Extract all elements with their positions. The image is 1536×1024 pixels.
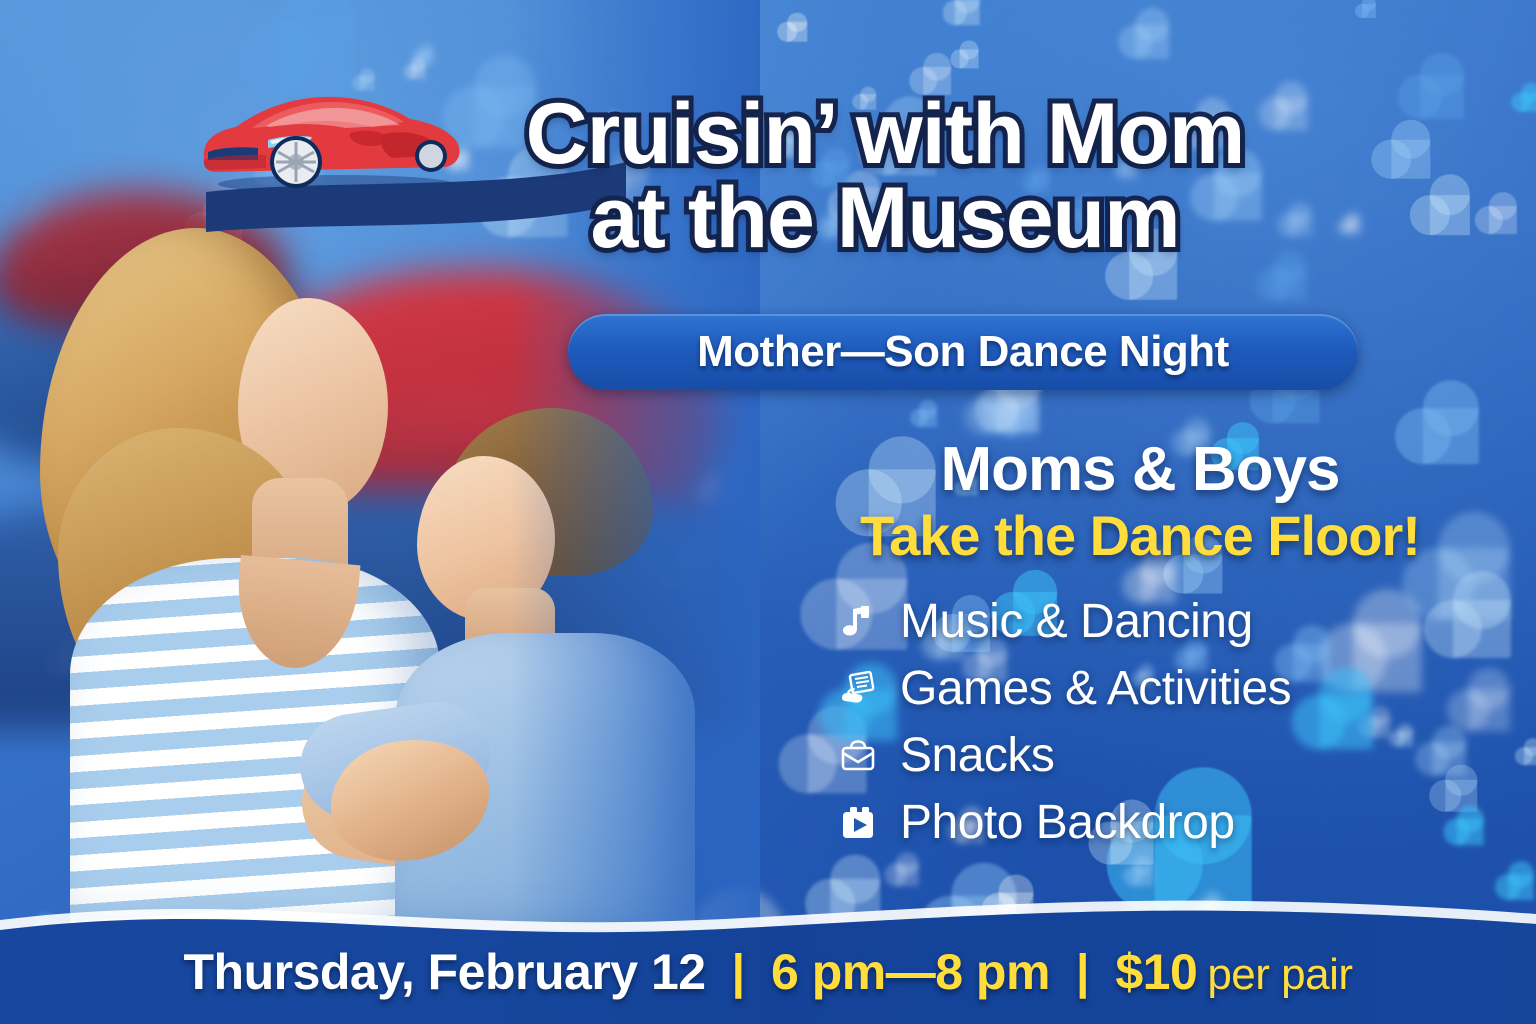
snack-basket-icon <box>838 734 878 778</box>
promo-column: Moms & Boys Take the Dance Floor! Music … <box>790 438 1490 862</box>
feature-label: Photo Backdrop <box>900 795 1235 850</box>
game-activity-icon <box>838 667 878 711</box>
subtitle-pill-label: Mother—Son Dance Night <box>697 327 1229 377</box>
footer-details: Thursday, February 12 | 6 pm—8 pm | $10p… <box>0 920 1536 1024</box>
list-item: Music & Dancing <box>838 594 1490 649</box>
price-amount: $10 <box>1115 944 1197 1000</box>
music-note-icon <box>838 600 878 644</box>
feature-list: Music & Dancing Games & Act <box>790 594 1490 850</box>
event-poster: Cruisin’ with Mom at the Museum Mother—S… <box>0 0 1536 1024</box>
feature-label: Snacks <box>900 728 1054 783</box>
event-date: Thursday, February 12 <box>184 943 706 1001</box>
headline-line-1: Cruisin’ with Mom <box>455 92 1315 176</box>
photo-camera-icon <box>838 801 878 845</box>
promo-heading: Moms & Boys <box>790 438 1490 501</box>
event-price: $10per pair <box>1115 943 1352 1001</box>
feature-label: Music & Dancing <box>900 594 1253 649</box>
footer-separator-2: | <box>1050 945 1115 1000</box>
headline-line-2: at the Museum <box>455 176 1315 260</box>
footer-separator-1: | <box>706 945 771 1000</box>
feature-label: Games & Activities <box>900 661 1291 716</box>
promo-subheading: Take the Dance Floor! <box>790 507 1490 566</box>
subtitle-pill: Mother—Son Dance Night <box>568 314 1358 390</box>
list-item: Photo Backdrop <box>838 795 1490 850</box>
event-time: 6 pm—8 pm <box>771 943 1050 1001</box>
red-sports-car-icon <box>196 86 466 196</box>
list-item: Snacks <box>838 728 1490 783</box>
poster-headline: Cruisin’ with Mom at the Museum <box>455 92 1315 261</box>
list-item: Games & Activities <box>838 661 1490 716</box>
price-unit: per pair <box>1197 950 1352 999</box>
